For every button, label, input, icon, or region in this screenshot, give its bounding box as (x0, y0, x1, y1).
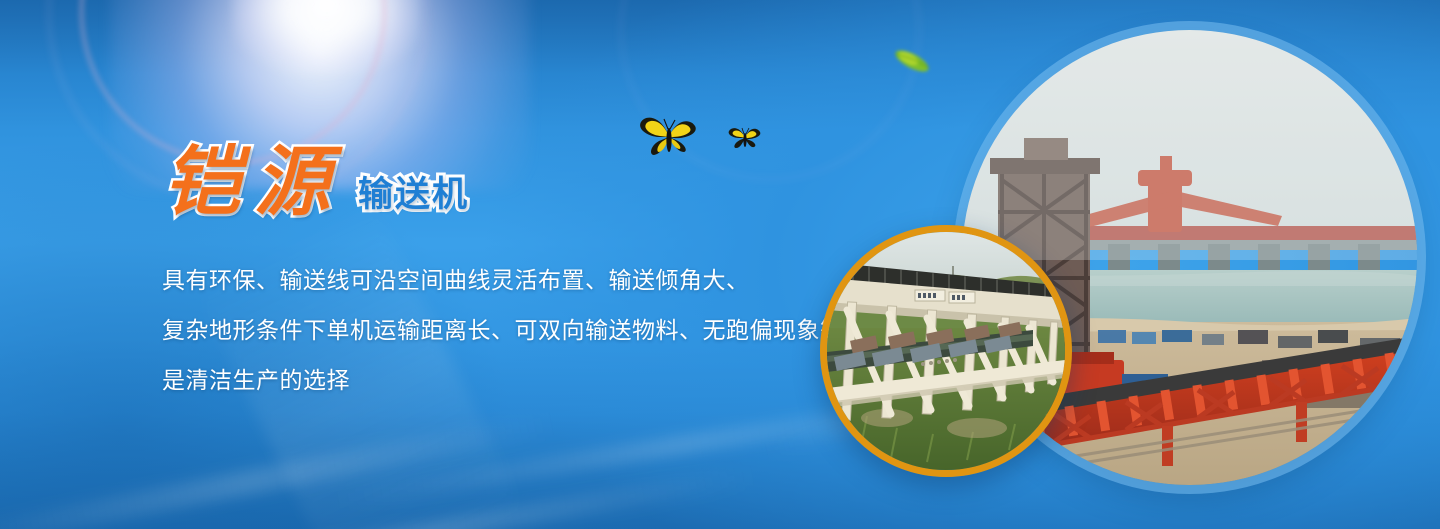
headline: 铠源 输送机 (160, 145, 469, 221)
brand-product: 输送机 (358, 177, 469, 212)
truss-conveyor-photo (820, 225, 1072, 477)
brand-name: 铠源 (160, 145, 350, 221)
hero-banner: 铠源 输送机 具有环保、输送线可沿空间曲线灵活布置、输送倾角大、 复杂地形条件下… (0, 0, 1440, 529)
butterfly-icon (728, 123, 762, 151)
butterfly-icon (638, 110, 700, 162)
